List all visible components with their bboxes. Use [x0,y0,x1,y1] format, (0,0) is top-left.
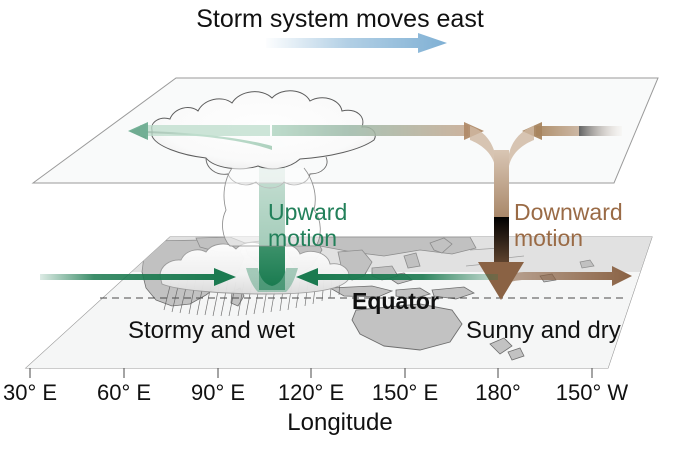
tick-label-5: 180° [475,380,521,406]
tick-label-1: 60° E [97,380,151,406]
page-title: Storm system moves east [0,5,680,33]
downward-motion-line2: motion [514,226,623,252]
tick-label-4: 150° E [372,380,438,406]
sunny-and-dry-label: Sunny and dry [466,318,621,345]
tick-label-6: 150° W [556,380,628,406]
tick-label-3: 120° E [278,380,344,406]
downward-motion-line1: Downward [514,200,623,226]
tick-label-2: 90° E [191,380,245,406]
tick-label-0: 30° E [3,380,57,406]
upward-motion-label: Upward motion [268,200,347,252]
downward-motion-label: Downward motion [514,200,623,252]
diagram-canvas: Storm system moves east Upward motion Do… [0,0,680,450]
x-axis-title: Longitude [0,410,680,437]
upward-motion-line1: Upward [268,200,347,226]
equator-label: Equator [352,289,439,315]
upward-motion-line2: motion [268,226,347,252]
stormy-and-wet-label: Stormy and wet [128,318,295,345]
